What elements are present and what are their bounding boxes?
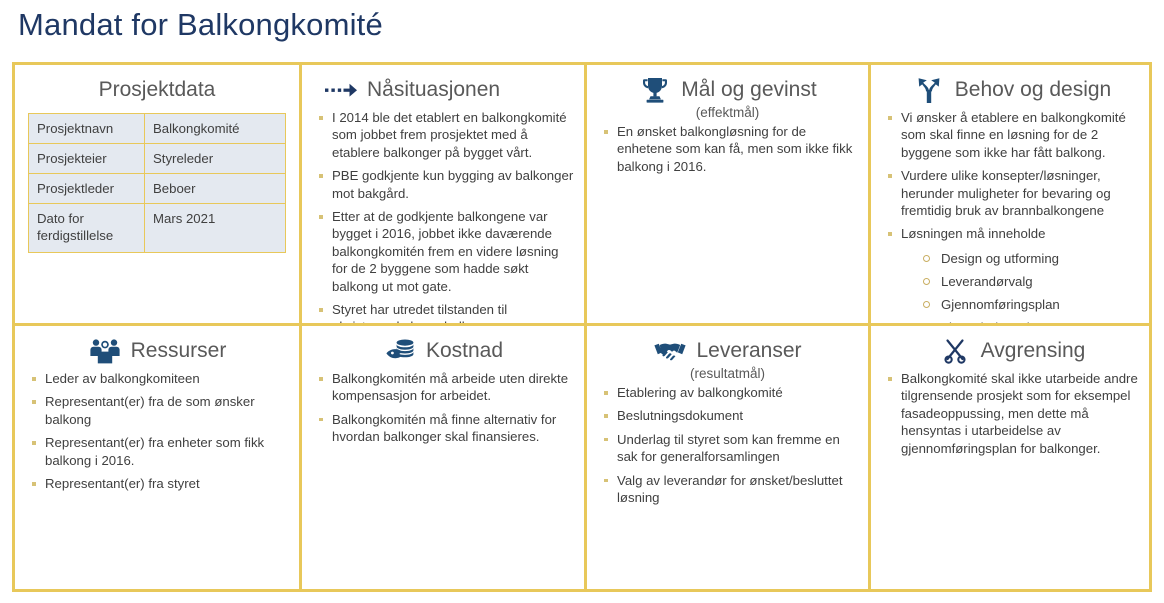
list-item: Balkongkomitén må finne alternativ for h… (310, 411, 576, 446)
list-item: Valg av leverandør for ønsket/besluttet … (595, 472, 860, 507)
panel-mal-og-gevinst: Mål og gevinst (effektmål) En ønsket bal… (587, 65, 871, 326)
panel-behov-og-design-header: Behov og design (879, 73, 1144, 107)
table-row: Prosjektnavn Balkongkomité (29, 114, 286, 144)
panel-avgrensing: Avgrensing Balkongkomité skal ikke utarb… (871, 326, 1152, 589)
list-item: Vi ønsker å etablere en balkongkomité so… (879, 109, 1144, 161)
panel-behov-og-design: Behov og design Vi ønsker å etablere en … (871, 65, 1152, 326)
panel-ressurser-title: Ressurser (131, 338, 227, 364)
panel-leveranser: Leveranser (resultatmål) Etablering av b… (587, 326, 871, 589)
list-item: Balkongkomitén må arbeide uten direkte k… (310, 370, 576, 405)
list-item: Balkongkomité skal ikke utarbeide andre … (879, 370, 1144, 457)
list-item: Leverandørvalg (879, 272, 1144, 291)
list-item: Representant(er) fra styret (23, 475, 291, 492)
list-item: En ønsket balkongløsning for de enhetene… (595, 123, 860, 175)
table-cell-key: Prosjektleder (29, 174, 145, 204)
fork-arrow-icon (912, 75, 946, 105)
table-row: Dato for ferdigstillelse Mars 2021 (29, 204, 286, 253)
panel-mal-og-gevinst-title: Mål og gevinst (681, 77, 816, 103)
mandate-canvas: Mandat for Balkongkomité Prosjektdata Pr… (0, 0, 1164, 603)
avgrensing-bullet-list: Balkongkomité skal ikke utarbeide andre … (879, 370, 1144, 457)
panel-prosjektdata-title: Prosjektdata (99, 77, 216, 103)
kostnad-bullet-list: Balkongkomitén må arbeide uten direkte k… (310, 370, 576, 446)
list-item: Løsningen må inneholde (879, 225, 1144, 242)
table-cell-value: Beboer (145, 174, 286, 204)
panel-leveranser-header: Leveranser (595, 334, 860, 368)
list-item: Etablering av balkongkomité (595, 384, 860, 401)
list-item: Representant(er) fra de som ønsker balko… (23, 393, 291, 428)
list-item: Beslutningsdokument (595, 407, 860, 424)
panel-nasituasjonen-title: Nåsituasjonen (367, 77, 500, 103)
list-item: Underlag til styret som kan fremme en sa… (595, 431, 860, 466)
mandate-grid: Prosjektdata Prosjektnavn Balkongkomité … (12, 62, 1152, 592)
table-cell-value: Mars 2021 (145, 204, 286, 253)
panel-kostnad: Kostnad Balkongkomitén må arbeide uten d… (302, 326, 587, 589)
handshake-icon (653, 336, 687, 366)
table-row: Prosjektleder Beboer (29, 174, 286, 204)
panel-ressurser-header: Ressurser (23, 334, 291, 368)
list-item: Vurdere ulike konsepter/løsninger, herun… (879, 167, 1144, 219)
list-item: Styret har utredet tilstanden til eksist… (310, 301, 576, 326)
list-item: Representant(er) fra enheter som fikk ba… (23, 434, 291, 469)
behov-og-design-subbullet-list: Design og utforming Leverandørvalg Gjenn… (879, 249, 1144, 326)
leveranser-bullet-list: Etablering av balkongkomité Beslutningsd… (595, 384, 860, 506)
panel-avgrensing-header: Avgrensing (879, 334, 1144, 368)
panel-leveranser-title: Leveranser (696, 338, 801, 364)
prosjektdata-table: Prosjektnavn Balkongkomité Prosjekteier … (28, 113, 286, 253)
list-item: I 2014 ble det etablert en balkongkomité… (310, 109, 576, 161)
trophy-icon (638, 75, 672, 105)
table-cell-value: Balkongkomité (145, 114, 286, 144)
table-cell-key: Prosjektnavn (29, 114, 145, 144)
table-row: Prosjekteier Styreleder (29, 144, 286, 174)
list-item: Gjennomføringsplan (879, 295, 1144, 314)
panel-ressurser: Ressurser Leder av balkongkomiteen Repre… (15, 326, 302, 589)
people-group-icon (88, 336, 122, 366)
money-stack-icon (383, 336, 417, 366)
panel-kostnad-header: Kostnad (310, 334, 576, 368)
panel-nasituasjonen-header: Nåsituasjonen (310, 73, 576, 107)
table-cell-key: Prosjekteier (29, 144, 145, 174)
nasituasjonen-bullet-list: I 2014 ble det etablert en balkongkomité… (310, 109, 576, 326)
list-item: PBE godkjente kun bygging av balkonger m… (310, 167, 576, 202)
panel-prosjektdata: Prosjektdata Prosjektnavn Balkongkomité … (15, 65, 302, 326)
panel-nasituasjonen: Nåsituasjonen I 2014 ble det etablert en… (302, 65, 587, 326)
list-item: Design og utforming (879, 249, 1144, 268)
mal-og-gevinst-bullet-list: En ønsket balkongløsning for de enhetene… (595, 123, 860, 175)
scissors-icon (938, 336, 972, 366)
panel-prosjektdata-header: Prosjektdata (23, 73, 291, 107)
dotted-arrow-icon (324, 75, 358, 105)
list-item: Finansieringsplan (879, 318, 1144, 326)
ressurser-bullet-list: Leder av balkongkomiteen Representant(er… (23, 370, 291, 492)
table-cell-value: Styreleder (145, 144, 286, 174)
list-item: Leder av balkongkomiteen (23, 370, 291, 387)
panel-mal-og-gevinst-subtitle: (effektmål) (595, 105, 860, 121)
page-title: Mandat for Balkongkomité (18, 4, 383, 46)
panel-leveranser-subtitle: (resultatmål) (595, 366, 860, 382)
table-cell-key: Dato for ferdigstillelse (29, 204, 145, 253)
panel-mal-og-gevinst-header: Mål og gevinst (595, 73, 860, 107)
panel-avgrensing-title: Avgrensing (981, 338, 1086, 364)
behov-og-design-bullet-list: Vi ønsker å etablere en balkongkomité so… (879, 109, 1144, 243)
panel-kostnad-title: Kostnad (426, 338, 503, 364)
list-item: Etter at de godkjente balkongene var byg… (310, 208, 576, 295)
panel-behov-og-design-title: Behov og design (955, 77, 1111, 103)
